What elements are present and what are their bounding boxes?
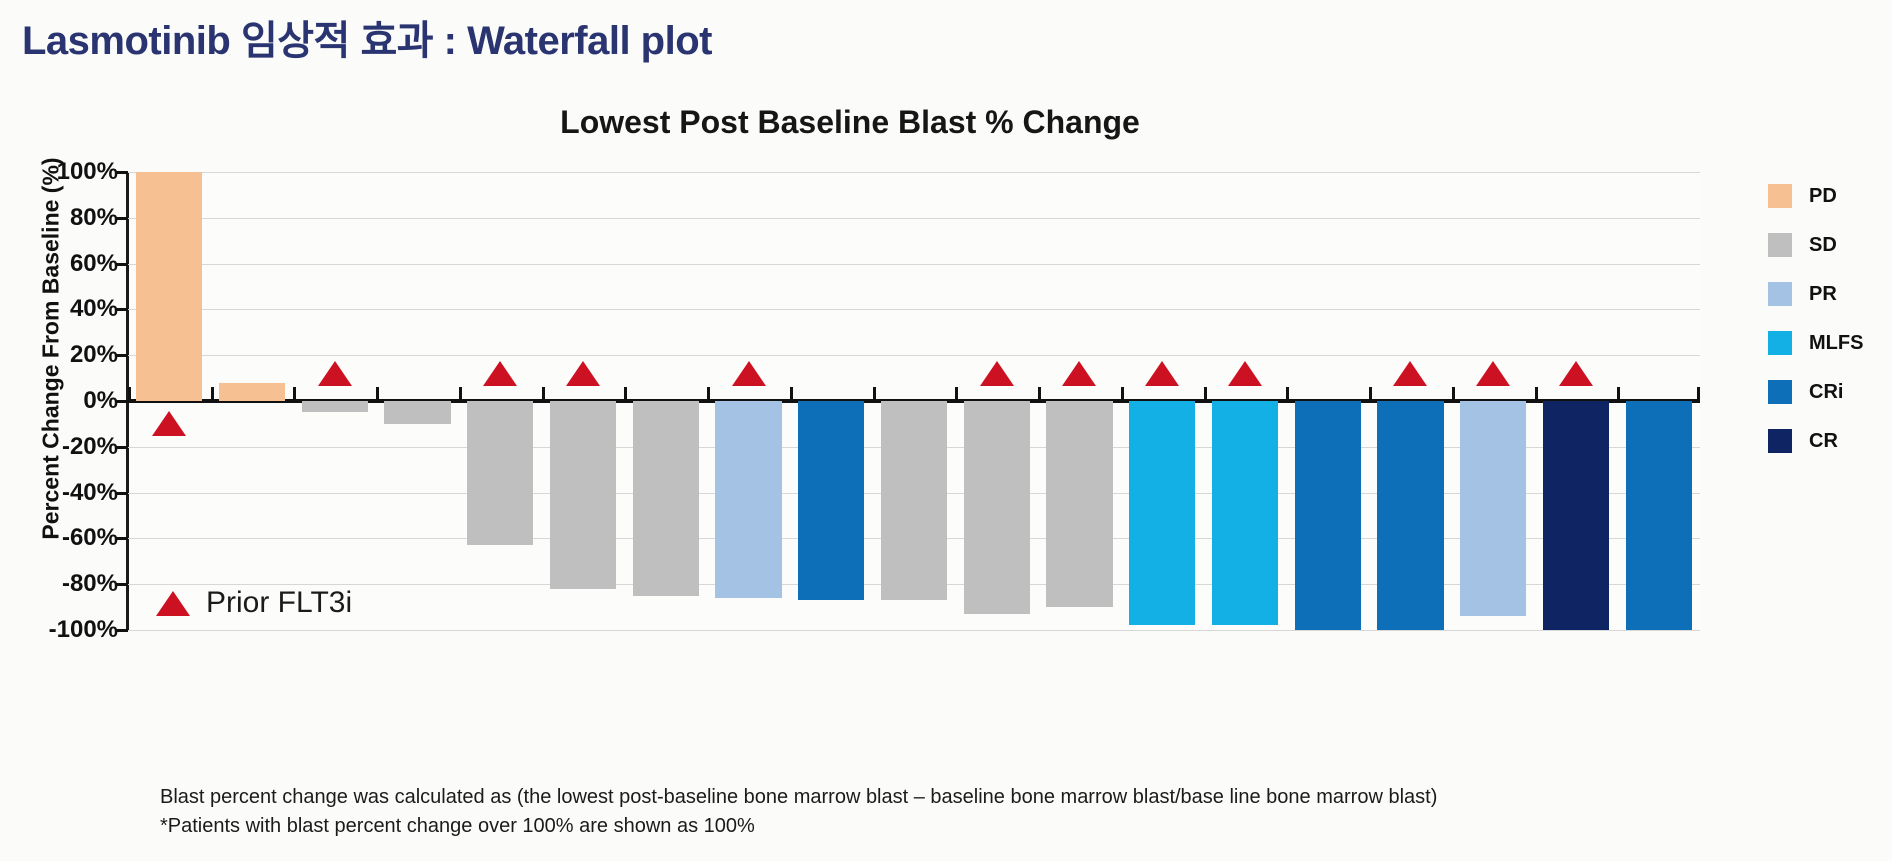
y-tick-mark <box>116 629 128 632</box>
slide-root: Lasmotinib 임상적 효과 : Waterfall plot Lowes… <box>0 0 1892 861</box>
x-tick-mark <box>707 387 710 400</box>
chart-bar <box>467 401 533 545</box>
y-tick-label: -40% <box>62 479 118 507</box>
y-tick-label: -100% <box>49 616 118 644</box>
legend-item-sd[interactable]: SD <box>1768 233 1863 257</box>
legend-label: CRi <box>1809 381 1843 404</box>
legend-swatch-icon <box>1768 282 1792 306</box>
chart-bar <box>1046 401 1112 607</box>
chart-bar <box>1626 401 1692 630</box>
y-tick-label: 0% <box>83 387 118 415</box>
chart-bar <box>550 401 616 589</box>
y-tick-label: 20% <box>70 341 118 369</box>
x-tick-mark <box>1697 387 1700 400</box>
legend-swatch-icon <box>1768 331 1792 355</box>
legend-item-pr[interactable]: PR <box>1768 282 1863 306</box>
y-tick-mark <box>116 217 128 220</box>
x-tick-mark <box>1617 387 1620 400</box>
x-tick-mark <box>459 387 462 400</box>
chart-bar <box>715 401 781 598</box>
footnotes: Blast percent change was calculated as (… <box>160 786 1437 838</box>
legend-label: PD <box>1809 185 1837 208</box>
y-tick-mark <box>116 446 128 449</box>
prior-flt3i-triangle-icon <box>732 361 766 386</box>
x-tick-mark <box>1121 387 1124 400</box>
chart-bar <box>633 401 699 596</box>
legend-swatch-icon <box>1768 184 1792 208</box>
chart-bar <box>1212 401 1278 625</box>
legend-item-pd[interactable]: PD <box>1768 184 1863 208</box>
y-tick-label: -60% <box>62 524 118 552</box>
x-tick-mark <box>128 387 131 400</box>
footnote-line: *Patients with blast percent change over… <box>160 815 1437 838</box>
chart-bar <box>1377 401 1443 630</box>
y-tick-label: -20% <box>62 433 118 461</box>
legend-label: CR <box>1809 430 1838 453</box>
prior-flt3i-triangle-icon <box>1393 361 1427 386</box>
prior-flt3i-triangle-icon <box>318 361 352 386</box>
legend-label: MLFS <box>1809 332 1863 355</box>
legend-item-cr[interactable]: CR <box>1768 429 1863 453</box>
prior-flt3i-triangle-icon <box>1145 361 1179 386</box>
chart-bar <box>384 401 450 424</box>
x-tick-mark <box>790 387 793 400</box>
x-tick-mark <box>955 387 958 400</box>
gridline <box>128 630 1700 631</box>
legend-swatch-icon <box>1768 233 1792 257</box>
prior-flt3i-triangle-icon <box>980 361 1014 386</box>
y-tick-mark <box>116 171 128 174</box>
plot-canvas <box>128 172 1700 630</box>
gridline <box>128 355 1700 356</box>
legend-label: SD <box>1809 234 1837 257</box>
x-tick-mark <box>1369 387 1372 400</box>
y-tick-label: 100% <box>57 158 118 186</box>
chart-plot-area: Prior FLT3i <box>128 172 1700 630</box>
prior-flt3i-key: Prior FLT3i <box>156 586 352 620</box>
legend-item-cri[interactable]: CRi <box>1768 380 1863 404</box>
x-tick-mark <box>873 387 876 400</box>
y-tick-label: -80% <box>62 570 118 598</box>
y-tick-mark <box>116 537 128 540</box>
gridline <box>128 218 1700 219</box>
x-tick-mark <box>1204 387 1207 400</box>
gridline <box>128 264 1700 265</box>
y-tick-label: 80% <box>70 204 118 232</box>
chart-bar <box>1129 401 1195 625</box>
prior-flt3i-triangle-icon <box>1228 361 1262 386</box>
chart-bar <box>964 401 1030 614</box>
chart-bar <box>1460 401 1526 616</box>
x-tick-mark <box>1038 387 1041 400</box>
legend-swatch-icon <box>1768 429 1792 453</box>
prior-flt3i-triangle-icon <box>1559 361 1593 386</box>
x-tick-mark <box>376 387 379 400</box>
y-tick-label: 60% <box>70 250 118 278</box>
chart-bar <box>881 401 947 600</box>
chart-bar <box>302 401 368 412</box>
gridline <box>128 309 1700 310</box>
page-title: Lasmotinib 임상적 효과 : Waterfall plot <box>22 8 712 66</box>
y-tick-mark <box>116 492 128 495</box>
chart-bar <box>798 401 864 600</box>
x-tick-mark <box>542 387 545 400</box>
chart-bar <box>136 172 202 401</box>
red-triangle-marker-icon <box>156 591 190 616</box>
chart-bar <box>219 383 285 401</box>
x-tick-mark <box>1535 387 1538 400</box>
y-tick-mark <box>116 583 128 586</box>
y-tick-mark <box>116 400 128 403</box>
chart-title: Lowest Post Baseline Blast % Change <box>0 104 1700 141</box>
chart-bar <box>1295 401 1361 630</box>
chart-legend: PDSDPRMLFSCRiCR <box>1768 184 1863 453</box>
y-axis-ticks: 100%80%60%40%20%0%-20%-40%-60%-80%-100% <box>0 172 118 630</box>
legend-label: PR <box>1809 283 1837 306</box>
prior-flt3i-label: Prior FLT3i <box>206 586 352 620</box>
chart-bar <box>1543 401 1609 630</box>
footnote-line: Blast percent change was calculated as (… <box>160 786 1437 809</box>
x-tick-mark <box>1452 387 1455 400</box>
prior-flt3i-triangle-icon <box>566 361 600 386</box>
legend-swatch-icon <box>1768 380 1792 404</box>
legend-item-mlfs[interactable]: MLFS <box>1768 331 1863 355</box>
prior-flt3i-triangle-icon <box>152 411 186 436</box>
y-tick-label: 40% <box>70 295 118 323</box>
x-tick-mark <box>1286 387 1289 400</box>
prior-flt3i-triangle-icon <box>1476 361 1510 386</box>
prior-flt3i-triangle-icon <box>483 361 517 386</box>
gridline <box>128 172 1700 173</box>
prior-flt3i-triangle-icon <box>1062 361 1096 386</box>
y-tick-mark <box>116 354 128 357</box>
y-tick-mark <box>116 308 128 311</box>
x-tick-mark <box>293 387 296 400</box>
y-tick-mark <box>116 263 128 266</box>
x-tick-mark <box>211 387 214 400</box>
x-tick-mark <box>624 387 627 400</box>
